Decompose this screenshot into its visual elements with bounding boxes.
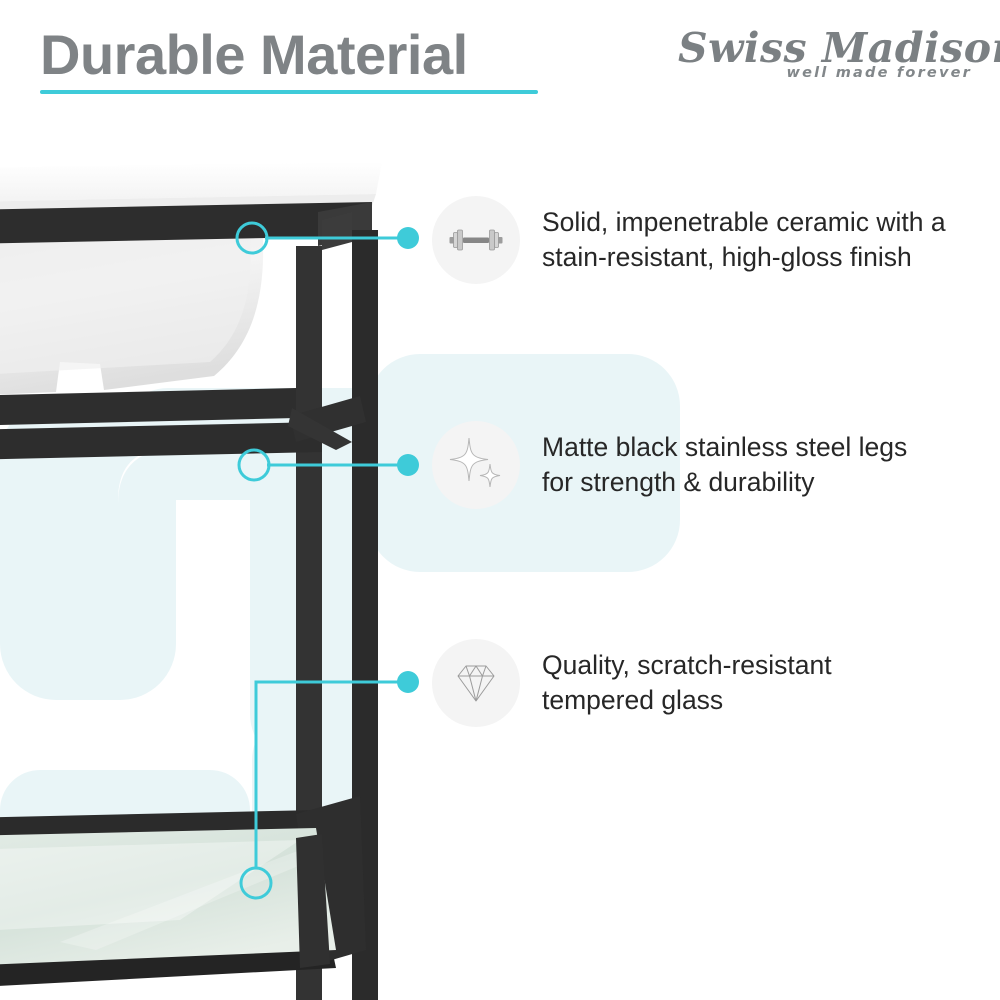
page-title: Durable Material [40, 22, 468, 87]
brand-logo: Swiss Madison® well made forever [678, 28, 978, 100]
feature-item-tempered-glass: Quality, scratch-resistant tempered glas… [432, 639, 832, 727]
tempered-glass-shelf [0, 828, 336, 966]
product-illustration [0, 150, 430, 1000]
dumbbell-icon [446, 210, 506, 270]
feature-item-steel-legs: Matte black stainless steel legs for str… [432, 421, 907, 509]
logo-wordmark: Swiss Madison® [678, 28, 978, 69]
feature-text-2: Matte black stainless steel legs for str… [542, 430, 907, 500]
infographic-page: Durable Material Swiss Madison® well mad… [0, 0, 1000, 1000]
feature-icon-container-2 [432, 421, 520, 509]
feature-text-1: Solid, impenetrable ceramic with a stain… [542, 205, 946, 275]
feature-text-3: Quality, scratch-resistant tempered glas… [542, 648, 832, 718]
ceramic-sink-basin [0, 224, 263, 396]
title-underline [40, 90, 538, 94]
feature-item-ceramic: Solid, impenetrable ceramic with a stain… [432, 196, 946, 284]
feature-icon-container-1 [432, 196, 520, 284]
diamond-icon [448, 655, 504, 711]
feature-icon-container-3 [432, 639, 520, 727]
sparkle-icon [445, 434, 507, 496]
